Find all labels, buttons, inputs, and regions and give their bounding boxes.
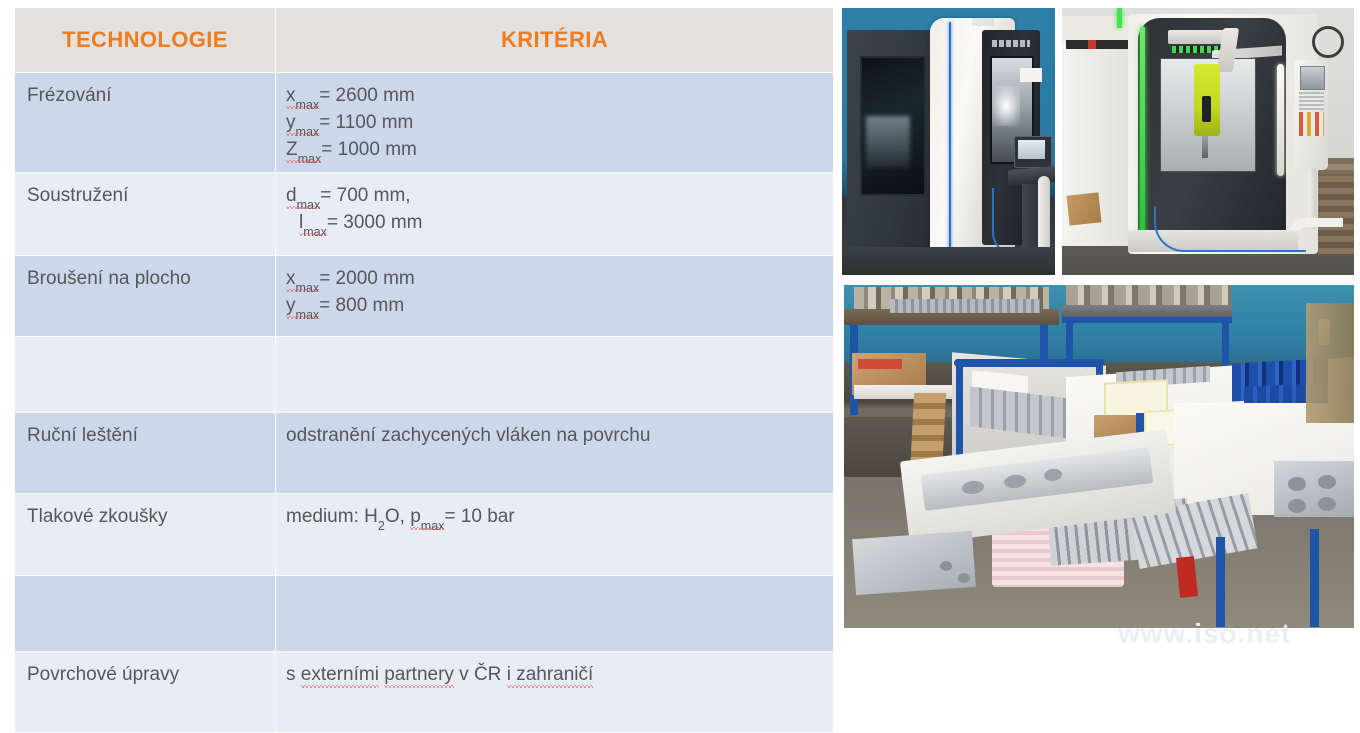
mounting-ring: [1312, 26, 1344, 58]
subscript: max: [296, 308, 320, 322]
spellcheck-term: ymax: [286, 112, 319, 133]
bench-frame: [1062, 317, 1232, 323]
medium-suffix: O,: [385, 506, 410, 527]
table-row: Soustružení dmax= 700 mm, lmax= 3000 mm: [15, 172, 834, 255]
photo-panel: [842, 8, 1354, 628]
cell-criteria: s externími partnery v ČR i zahraničí: [276, 651, 834, 732]
cell-technology: Soustružení: [15, 172, 276, 255]
technology-criteria-table: TECHNOLOGIE KRITÉRIA Frézování xmax= 260…: [14, 8, 834, 733]
machined-pocket: [1318, 497, 1336, 511]
criteria-line: xmax= 2600 mm: [286, 83, 819, 110]
window-reflection: [866, 116, 910, 168]
subscript: max: [297, 198, 321, 212]
cell-criteria: [276, 336, 834, 412]
medium-label: medium: H: [286, 506, 378, 527]
symbol: Z: [286, 139, 298, 160]
wall-paper-note: [1020, 68, 1042, 82]
cell-criteria: odstranění zachycených vláken na povrchu: [276, 412, 834, 493]
subscript: max: [296, 98, 320, 112]
subscript: max: [421, 519, 445, 533]
column-header-criteria: KRITÉRIA: [276, 8, 834, 73]
blue-cable: [992, 188, 1038, 256]
cell-technology: Ruční leštění: [15, 412, 276, 493]
criteria-line: ymax= 800 mm: [286, 293, 819, 320]
table-header-row: TECHNOLOGIE KRITÉRIA: [15, 8, 834, 73]
floor: [842, 247, 1055, 275]
table-row: Povrchové úpravy s externími partnery v …: [15, 651, 834, 732]
spellcheck-term: ymax: [286, 295, 319, 316]
criteria-line: ymax= 1100 mm: [286, 110, 819, 137]
trolley-leg: [956, 359, 963, 459]
value: = 1100 mm: [319, 112, 413, 133]
machined-pocket: [1288, 477, 1306, 491]
pendant-keypad: [1299, 92, 1324, 110]
shelf-upper-right: [1066, 285, 1231, 305]
pendant-screen: [1300, 66, 1325, 90]
spellcheck-term: xmax: [286, 268, 319, 289]
blue-accent-line: [949, 22, 951, 254]
spellcheck-term: i zahraničí: [507, 664, 594, 685]
tool-clamp: [1202, 96, 1211, 122]
control-screen: [1018, 140, 1045, 159]
spellcheck-term: externími: [301, 664, 379, 685]
subscript: 2: [378, 519, 385, 533]
machined-pocket: [1318, 475, 1336, 489]
machined-block-set: [1274, 461, 1354, 517]
subscript: max: [296, 281, 320, 295]
value: = 3000 mm: [327, 212, 423, 233]
criteria-line: xmax= 2000 mm: [286, 266, 819, 293]
photo-workshop-machined-parts: [844, 285, 1354, 628]
cell-technology: [15, 336, 276, 412]
symbol: x: [286, 85, 296, 106]
cell-technology: Broušení na plocho: [15, 255, 276, 336]
subscript: max: [296, 125, 320, 139]
workbench-right-top: [1062, 305, 1232, 317]
watermark: www.iso.net: [1118, 618, 1291, 650]
spellcheck-term: Zmax: [286, 139, 321, 160]
machine-logo: [992, 40, 1030, 47]
criteria-line: dmax= 700 mm,: [286, 183, 819, 210]
text-fragment: v ČR: [454, 664, 507, 685]
slide: TECHNOLOGIE KRITÉRIA Frézování xmax= 260…: [0, 0, 1360, 636]
photo-cnc-horizontal-machining-centre: [842, 8, 1055, 275]
value: = 1000 mm: [321, 139, 417, 160]
subscript: max: [298, 152, 322, 166]
cabinet-label-strip: [1066, 40, 1128, 49]
cell-technology: Tlakové zkoušky: [15, 493, 276, 575]
symbol: x: [286, 268, 296, 289]
drilled-plate: [852, 531, 976, 595]
box-tape: [858, 359, 902, 369]
value: = 700 mm,: [320, 185, 410, 206]
wall-sign: [972, 18, 994, 26]
green-signal-lamp: [1117, 8, 1122, 28]
value: = 2000 mm: [319, 268, 415, 289]
symbol: y: [286, 295, 296, 316]
plate-hole: [958, 573, 970, 583]
table-row: Broušení na plocho xmax= 2000 mm ymax= 8…: [15, 255, 834, 336]
subscript: max: [303, 225, 327, 239]
machine-nameplate: [1168, 30, 1224, 44]
cardboard-box: [1067, 192, 1102, 225]
table-leg: [1310, 529, 1319, 627]
criteria-line: Zmax= 1000 mm: [286, 137, 819, 164]
value: = 10 bar: [444, 506, 514, 527]
spellcheck-term: pmax: [410, 506, 444, 527]
column-header-technology: TECHNOLOGIE: [15, 8, 276, 73]
pendant-buttons: [1299, 112, 1324, 136]
photo-cnc-vertical-machining-centre: [1062, 8, 1354, 275]
value: = 2600 mm: [319, 85, 415, 106]
green-led-strip-vertical: [1140, 26, 1145, 244]
criteria-line: lmax= 3000 mm: [286, 210, 819, 237]
table-row-empty: [15, 336, 834, 412]
table-row: Tlakové zkoušky medium: H2O, pmax= 10 ba…: [15, 493, 834, 575]
table-row-empty: [15, 575, 834, 651]
symbol: p: [410, 506, 421, 527]
symbol: y: [286, 112, 296, 133]
criteria-line: medium: H2O, pmax= 10 bar: [286, 504, 819, 531]
table-row: Frézování xmax= 2600 mm ymax= 1100 mm Zm…: [15, 73, 834, 173]
text-fragment: s: [286, 664, 301, 685]
table-row: Ruční leštění odstranění zachycených vlá…: [15, 412, 834, 493]
machined-pocket: [1288, 499, 1306, 513]
value: = 800 mm: [319, 295, 404, 316]
criteria-line: s externími partnery v ČR i zahraničí: [286, 662, 819, 689]
work-lamp: [1277, 64, 1284, 176]
technology-criteria-table-wrapper: TECHNOLOGIE KRITÉRIA Frézování xmax= 260…: [14, 8, 833, 733]
spellcheck-term: lmax: [299, 212, 327, 233]
cell-criteria: dmax= 700 mm, lmax= 3000 mm: [276, 172, 834, 255]
cell-criteria: [276, 575, 834, 651]
plate-hole: [940, 561, 952, 571]
wall-curtain: [1306, 303, 1354, 423]
cell-technology: Povrchové úpravy: [15, 651, 276, 732]
cell-criteria: xmax= 2600 mm ymax= 1100 mm Zmax= 1000 m…: [276, 73, 834, 173]
parts-row-on-bench: [890, 299, 1040, 313]
table-leg: [1216, 537, 1225, 627]
cell-technology: [15, 575, 276, 651]
flash-reflection: [992, 86, 1020, 126]
cell-technology: Frézování: [15, 73, 276, 173]
cell-criteria: medium: H2O, pmax= 10 bar: [276, 493, 834, 575]
cell-criteria: xmax= 2000 mm ymax= 800 mm: [276, 255, 834, 336]
spellcheck-term: dmax: [286, 185, 320, 206]
blue-cable: [1154, 206, 1306, 252]
symbol: d: [286, 185, 297, 206]
spellcheck-term: xmax: [286, 85, 319, 106]
spellcheck-term: partnery: [384, 664, 454, 685]
trolley-handle: [954, 359, 1104, 367]
spindle: [1202, 136, 1208, 158]
